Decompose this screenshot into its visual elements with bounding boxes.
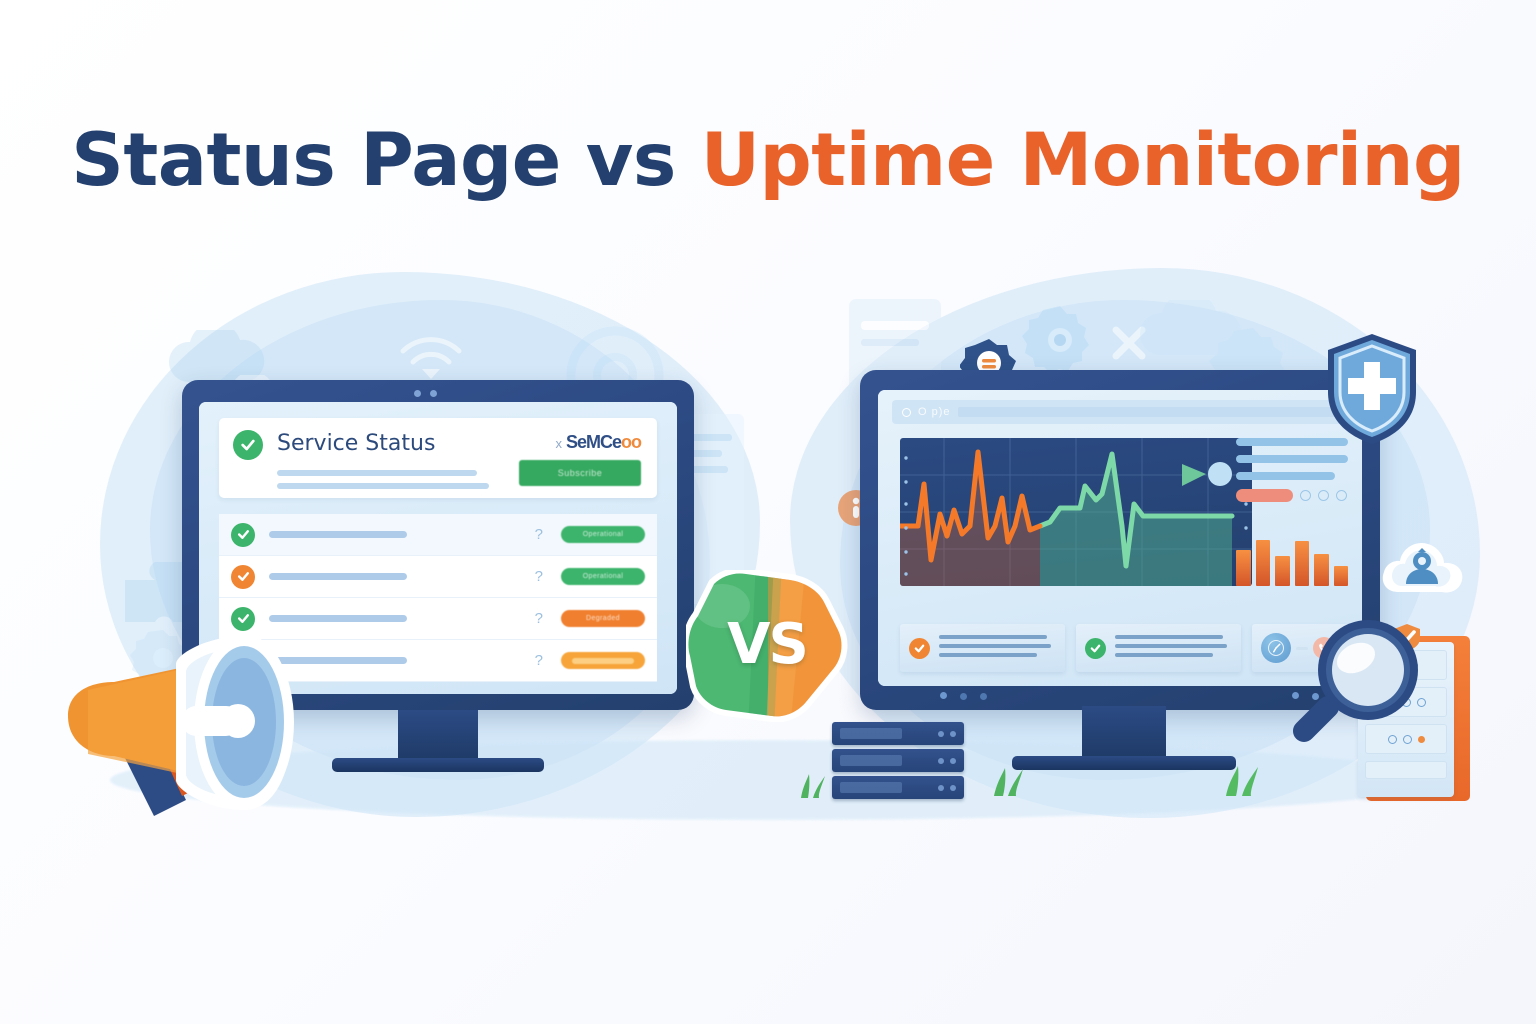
status-ok-icon — [231, 607, 255, 631]
rack-unit[interactable] — [1365, 761, 1447, 779]
bezel-dot — [960, 693, 967, 700]
cloud-icon — [1130, 300, 1260, 370]
metric-pill-row — [1236, 489, 1348, 502]
wifi-icon — [395, 335, 467, 385]
status-badge: Degraded — [561, 610, 645, 627]
bar — [1295, 541, 1310, 586]
service-status-heading: Service Status — [277, 431, 435, 456]
status-warning-icon — [231, 565, 255, 589]
bezel-dot — [940, 692, 947, 699]
table-row[interactable]: ? Operational — [219, 514, 657, 556]
gear-icon — [1020, 300, 1100, 380]
chart-series — [900, 438, 1252, 586]
camera-dot — [430, 390, 437, 397]
chart-sidebar — [1236, 438, 1348, 586]
card-text-lines — [939, 635, 1056, 662]
grass-icon — [1222, 764, 1270, 801]
status-warning-icon — [909, 638, 930, 659]
status-cards — [900, 624, 1348, 672]
illustration-canvas: Status Page vs Uptime Monitoring — [0, 0, 1536, 1024]
status-badge: Operational — [561, 526, 645, 543]
subscribe-button[interactable]: Subscribe — [519, 460, 641, 486]
browser-dot-icon — [902, 408, 911, 417]
incidents-bar-chart — [1236, 524, 1348, 586]
camera-dot — [414, 390, 421, 397]
bar — [1236, 550, 1251, 586]
status-ok-icon — [233, 430, 263, 460]
server-rack-icon — [832, 722, 972, 802]
monitor-neck — [1082, 706, 1166, 760]
table-row[interactable]: ? Operational — [219, 556, 657, 598]
monitor-base — [332, 758, 544, 772]
status-card-ok[interactable] — [1076, 624, 1241, 672]
service-status-card: Service Status xSeMCeoo Subscribe — [219, 418, 657, 498]
url-text: O p)e — [918, 406, 951, 418]
monitor-base — [1012, 756, 1236, 770]
bezel-dot — [980, 693, 987, 700]
megaphone-icon — [58, 630, 323, 830]
toggle-icon[interactable] — [1300, 490, 1311, 501]
status-badge — [561, 652, 645, 669]
page-title: Status Page vs Uptime Monitoring — [0, 118, 1536, 203]
brand-logo-tail: oo — [621, 432, 641, 452]
server-unit — [832, 776, 964, 799]
toggle-icon[interactable] — [1318, 490, 1329, 501]
bar — [1334, 566, 1349, 586]
status-badge: Operational — [561, 568, 645, 585]
magnifying-glass-icon — [1282, 608, 1432, 758]
brand-logo: xSeMCeoo — [555, 432, 641, 453]
vs-badge: VS — [686, 570, 848, 722]
server-unit — [832, 749, 964, 772]
status-card-warning[interactable] — [900, 624, 1065, 672]
cloud-user-icon — [1378, 530, 1466, 602]
status-ok-icon — [231, 523, 255, 547]
title-part-navy: Status Page vs — [71, 118, 700, 203]
brand-logo-text: SeMCe — [566, 432, 621, 452]
card-text-lines — [1115, 635, 1232, 662]
brand-x-mark: x — [555, 436, 561, 451]
row-counter: ? — [535, 526, 543, 543]
server-unit — [832, 722, 964, 745]
browser-url-bar[interactable]: O p)e — [892, 400, 1348, 424]
bar — [1256, 540, 1271, 587]
response-time-chart — [900, 438, 1252, 586]
bar — [1275, 556, 1290, 586]
title-part-orange: Uptime Monitoring — [701, 118, 1465, 203]
service-name-placeholder — [269, 531, 407, 538]
service-name-placeholder — [269, 573, 407, 580]
grass-icon — [990, 766, 1036, 801]
row-counter: ? — [535, 610, 543, 627]
vs-label: VS — [686, 570, 848, 722]
metric-pill — [1236, 489, 1293, 502]
shield-health-icon — [1322, 330, 1422, 448]
monitor-neck — [398, 710, 478, 762]
row-counter: ? — [535, 568, 543, 585]
bar — [1314, 554, 1329, 586]
service-name-placeholder — [269, 615, 407, 622]
row-counter: ? — [535, 652, 543, 669]
status-ok-icon — [1085, 638, 1106, 659]
toggle-icon[interactable] — [1336, 490, 1347, 501]
url-placeholder — [958, 407, 1338, 417]
